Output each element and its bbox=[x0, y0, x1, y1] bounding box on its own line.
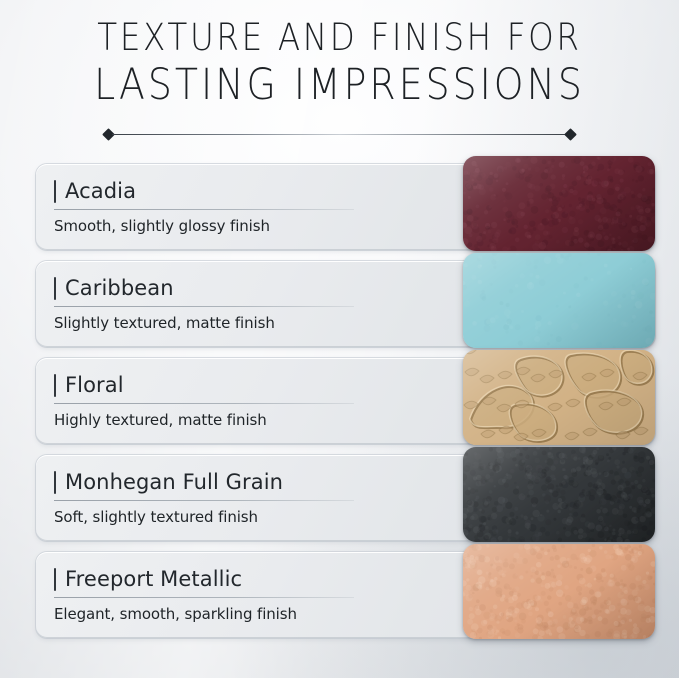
finish-description: Highly textured, matte finish bbox=[54, 411, 414, 429]
finish-text-block: FloralHighly textured, matte finish bbox=[54, 370, 414, 429]
finish-row: AcadiaSmooth, slightly glossy finish bbox=[0, 160, 679, 257]
finish-row: CaribbeanSlightly textured, matte finish bbox=[0, 257, 679, 354]
accent-bar bbox=[54, 277, 56, 300]
finish-text-block: Freeport MetallicElegant, smooth, sparkl… bbox=[54, 564, 414, 623]
accent-bar bbox=[54, 180, 56, 203]
page-header: TEXTURE AND FINISH FOR LASTING IMPRESSIO… bbox=[0, 18, 679, 108]
finish-name-row: Freeport Metallic bbox=[54, 564, 414, 594]
finish-name: Acadia bbox=[65, 179, 136, 203]
finish-name: Freeport Metallic bbox=[65, 567, 242, 591]
accent-bar bbox=[54, 568, 56, 591]
swatch-gloss-highlight bbox=[463, 253, 655, 348]
infographic-canvas: TEXTURE AND FINISH FOR LASTING IMPRESSIO… bbox=[0, 0, 679, 678]
finish-row: Monhegan Full GrainSoft, slightly textur… bbox=[0, 451, 679, 548]
name-underline bbox=[54, 597, 354, 598]
finish-description: Elegant, smooth, sparkling finish bbox=[54, 605, 414, 623]
finish-text-block: Monhegan Full GrainSoft, slightly textur… bbox=[54, 467, 414, 526]
finish-description: Soft, slightly textured finish bbox=[54, 508, 414, 526]
name-underline bbox=[54, 403, 354, 404]
finish-description: Slightly textured, matte finish bbox=[54, 314, 414, 332]
swatch-gloss-highlight bbox=[463, 544, 655, 639]
name-underline bbox=[54, 306, 354, 307]
name-underline bbox=[54, 500, 354, 501]
diamond-icon-right bbox=[564, 128, 577, 141]
swatch-caribbean[interactable] bbox=[463, 253, 655, 348]
swatch-acadia[interactable] bbox=[463, 156, 655, 251]
swatch-floral[interactable] bbox=[463, 350, 655, 445]
finish-name-row: Caribbean bbox=[54, 273, 414, 303]
finish-text-block: CaribbeanSlightly textured, matte finish bbox=[54, 273, 414, 332]
finish-name-row: Monhegan Full Grain bbox=[54, 467, 414, 497]
finish-list: AcadiaSmooth, slightly glossy finishCari… bbox=[0, 160, 679, 645]
finish-name-row: Floral bbox=[54, 370, 414, 400]
accent-bar bbox=[54, 471, 56, 494]
swatch-monhegan-full-grain[interactable] bbox=[463, 447, 655, 542]
swatch-gloss-highlight bbox=[463, 156, 655, 251]
accent-bar bbox=[54, 374, 56, 397]
swatch-gloss-highlight bbox=[463, 447, 655, 542]
finish-description: Smooth, slightly glossy finish bbox=[54, 217, 414, 235]
finish-name: Caribbean bbox=[65, 276, 174, 300]
finish-name-row: Acadia bbox=[54, 176, 414, 206]
divider-line bbox=[112, 134, 567, 135]
finish-row: FloralHighly textured, matte finish bbox=[0, 354, 679, 451]
finish-name: Monhegan Full Grain bbox=[65, 470, 283, 494]
page-title-line-2: LASTING IMPRESSIONS bbox=[41, 62, 639, 108]
finish-name: Floral bbox=[65, 373, 124, 397]
page-title-line-1: TEXTURE AND FINISH FOR bbox=[41, 18, 639, 58]
name-underline bbox=[54, 209, 354, 210]
title-divider bbox=[104, 130, 575, 140]
finish-row: Freeport MetallicElegant, smooth, sparkl… bbox=[0, 548, 679, 645]
finish-text-block: AcadiaSmooth, slightly glossy finish bbox=[54, 176, 414, 235]
swatch-freeport-metallic[interactable] bbox=[463, 544, 655, 639]
swatch-gloss-highlight bbox=[463, 350, 655, 445]
